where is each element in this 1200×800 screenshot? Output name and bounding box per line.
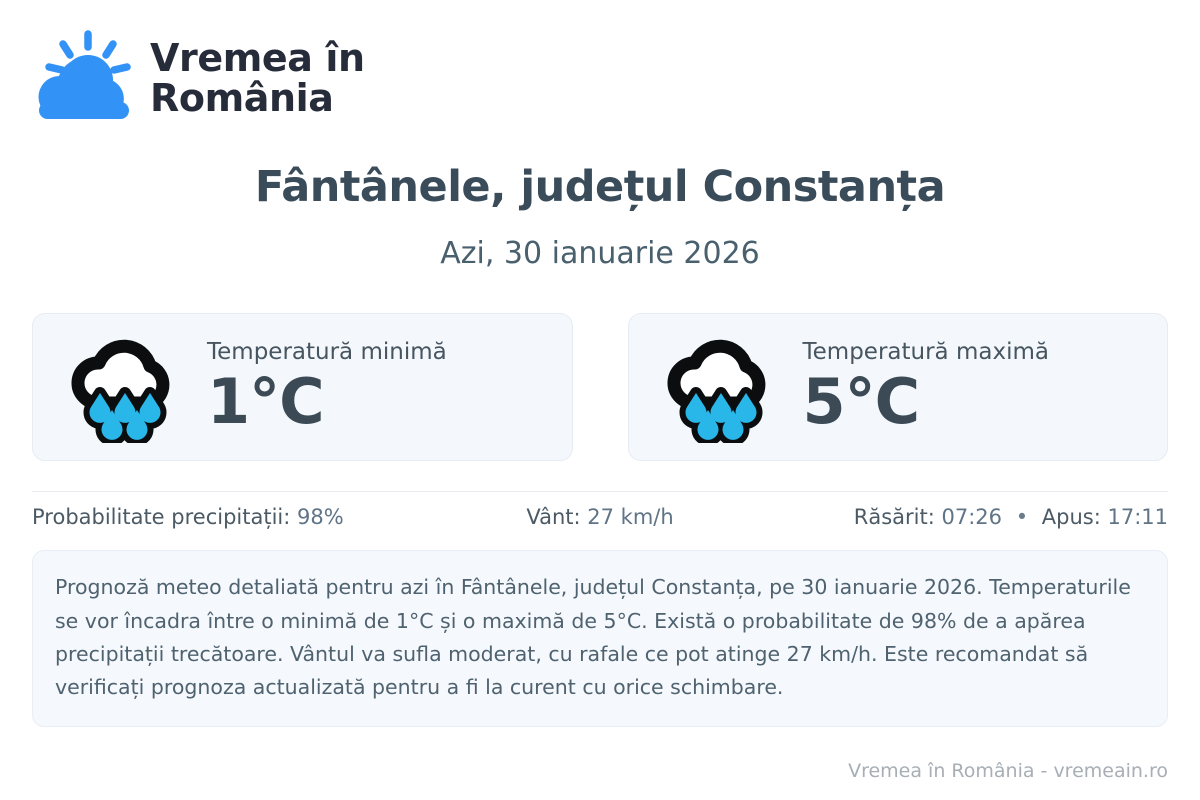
page-title: Fântânele, județul Constanța — [32, 164, 1168, 211]
forecast-description-text: Prognoză meteo detaliată pentru azi în F… — [55, 571, 1145, 704]
max-temperature-value: 5°C — [803, 369, 1049, 434]
temperature-cards: Temperatură minimă 1°C — [32, 313, 1168, 461]
site-logo-text: Vremea în România — [150, 38, 365, 119]
max-temperature-body: Temperatură maximă 5°C — [803, 340, 1049, 434]
max-temperature-card: Temperatură maximă 5°C — [628, 313, 1169, 461]
stat-separator: • — [1009, 505, 1035, 529]
sunrise-label: Răsărit: — [854, 505, 935, 529]
sunset-label: Apus: — [1042, 505, 1101, 529]
stats-row: Probabilitate precipitații: 98% Vânt: 27… — [32, 492, 1168, 542]
wind-value: 27 km/h — [587, 505, 673, 529]
precipitation-stat: Probabilitate precipitații: 98% — [32, 505, 411, 529]
precipitation-label: Probabilitate precipitații: — [32, 505, 290, 529]
sun-times-stat: Răsărit: 07:26 • Apus: 17:11 — [789, 505, 1168, 529]
title-block: Fântânele, județul Constanța Azi, 30 ian… — [32, 164, 1168, 270]
min-temperature-body: Temperatură minimă 1°C — [207, 340, 447, 434]
sun-behind-cloud-icon — [32, 30, 136, 126]
forecast-description-card: Prognoză meteo detaliată pentru azi în F… — [32, 550, 1168, 727]
rain-cloud-icon — [663, 331, 781, 443]
min-temperature-value: 1°C — [207, 369, 447, 434]
wind-label: Vânt: — [526, 505, 580, 529]
wind-stat: Vânt: 27 km/h — [411, 505, 790, 529]
sunset-value: 17:11 — [1107, 505, 1168, 529]
max-temperature-label: Temperatură maximă — [803, 340, 1049, 365]
footer-attribution: Vremea în România - vremeain.ro — [848, 760, 1168, 782]
page-subtitle: Azi, 30 ianuarie 2026 — [32, 237, 1168, 270]
site-logo[interactable]: Vremea în România — [32, 0, 1168, 110]
precipitation-value: 98% — [297, 505, 344, 529]
min-temperature-card: Temperatură minimă 1°C — [32, 313, 573, 461]
sunrise-value: 07:26 — [941, 505, 1002, 529]
rain-cloud-icon — [67, 331, 185, 443]
weather-page: Vremea în România Fântânele, județul Con… — [0, 0, 1200, 800]
min-temperature-label: Temperatură minimă — [207, 340, 447, 365]
